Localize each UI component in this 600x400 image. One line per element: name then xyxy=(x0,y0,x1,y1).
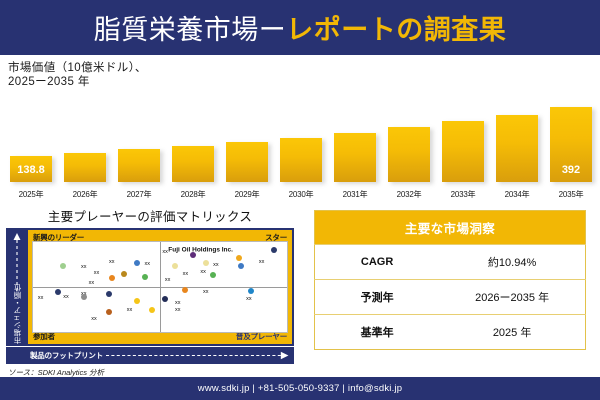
matrix-point-label: xx xyxy=(203,289,209,295)
bar-column xyxy=(386,100,432,182)
bar: 392 xyxy=(550,107,592,182)
matrix-point-label: xx xyxy=(63,294,69,300)
matrix-point-label: xx xyxy=(89,280,95,286)
x-axis-tick-label: 2033年 xyxy=(440,189,486,200)
x-axis-tick-label: 2029年 xyxy=(224,189,270,200)
matrix-data-point xyxy=(60,263,66,269)
page-title-main: 脂質栄養市場ー xyxy=(94,8,287,47)
matrix-data-point xyxy=(134,260,140,266)
matrix-point-label: xx xyxy=(200,269,206,275)
bar xyxy=(442,121,484,182)
matrix-point-label: xx xyxy=(259,259,265,265)
bar xyxy=(172,146,214,182)
matrix-point-label: xx xyxy=(91,316,97,322)
insights-row-value: 2026ー2035 年 xyxy=(439,280,585,315)
matrix-point-label: xx xyxy=(127,307,133,313)
bar xyxy=(118,149,160,182)
bar xyxy=(64,153,106,182)
player-evaluation-matrix-panel: 主要プレーヤーの評価マトリックス 市場シェア・順位 新興のリーダー スター 参加… xyxy=(0,202,300,377)
bar: 138.8 xyxy=(10,156,52,182)
x-axis-tick-label: 2030年 xyxy=(278,189,324,200)
x-axis-tick-label: 2028年 xyxy=(170,189,216,200)
source-note: ソース：SDKI Analytics 分析 xyxy=(4,364,296,378)
insights-table: 主要な市場洞察 CAGR約10.94%予測年2026ー2035 年基準年2025… xyxy=(314,210,586,350)
matrix-data-point xyxy=(271,247,277,253)
matrix-data-point xyxy=(106,309,112,315)
market-value-bar-chart: 市場価値（10億米ドル）、 2025ー2035 年 138.8392 2025年… xyxy=(0,55,600,202)
x-axis-tick-label: 2032年 xyxy=(386,189,432,200)
matrix-x-axis: 製品のフットプリント xyxy=(6,347,294,364)
matrix-point-label: xx xyxy=(213,262,219,268)
x-axis-tick-label: 2034年 xyxy=(494,189,540,200)
bar xyxy=(388,127,430,182)
insights-table-body: CAGR約10.94%予測年2026ー2035 年基準年2025 年 xyxy=(315,245,586,350)
matrix-title: 主要プレーヤーの評価マトリックス xyxy=(4,204,296,228)
bar-value-label: 392 xyxy=(550,164,592,176)
matrix-data-point xyxy=(121,271,127,277)
matrix-point-label: xx xyxy=(94,270,100,276)
bar-column: 138.8 xyxy=(8,100,54,182)
bar-column: 392 xyxy=(548,100,594,182)
matrix-point-label: xx xyxy=(38,295,44,301)
matrix-point-label: xx xyxy=(81,264,87,270)
insights-row-key: 基準年 xyxy=(315,315,440,350)
page-title-accent: レポートの調査果 xyxy=(286,8,506,47)
matrix-point-label: xx xyxy=(165,277,171,283)
matrix-data-point xyxy=(134,298,140,304)
insights-table-row: CAGR約10.94% xyxy=(315,245,586,280)
matrix-y-axis-label: 市場シェア・順位 xyxy=(13,284,22,344)
bar-column xyxy=(224,100,270,182)
matrix-data-point xyxy=(210,272,216,278)
matrix-point-label: xx xyxy=(175,300,181,306)
matrix-data-point xyxy=(142,274,148,280)
matrix-data-point xyxy=(149,307,155,313)
matrix-data-point xyxy=(172,263,178,269)
x-axis-tick-label: 2027年 xyxy=(116,189,162,200)
bar xyxy=(226,142,268,182)
matrix-point-label: xx xyxy=(183,271,189,277)
insights-row-value: 2025 年 xyxy=(439,315,585,350)
insights-row-value: 約10.94% xyxy=(439,245,585,280)
matrix-point-company-label: Fuji Oil Holdings Inc. xyxy=(168,247,233,254)
matrix-point-label: xx xyxy=(109,259,115,265)
page-header: 脂質栄養市場ー レポートの調査果 xyxy=(0,0,600,55)
matrix-data-point xyxy=(236,255,242,261)
insights-row-key: CAGR xyxy=(315,245,440,280)
matrix-box: 市場シェア・順位 新興のリーダー スター 参加者 普及プレーヤー xxxxxxx… xyxy=(6,228,294,346)
matrix-point-label: xx xyxy=(145,261,151,267)
x-axis-tick-labels: 2025年2026年2027年2028年2029年2030年2031年2032年… xyxy=(8,189,594,200)
matrix-data-point xyxy=(182,287,188,293)
matrix-data-point xyxy=(248,288,254,294)
footer-contact-text: www.sdki.jp | +81-505-050-9337 | info@sd… xyxy=(198,383,402,394)
bar-series: 138.8392 xyxy=(8,100,594,182)
matrix-data-point xyxy=(203,260,209,266)
bar-column xyxy=(116,100,162,182)
insights-row-key: 予測年 xyxy=(315,280,440,315)
matrix-data-point xyxy=(162,296,168,302)
matrix-point-label: xx xyxy=(162,249,168,255)
matrix-inner: 新興のリーダー スター 参加者 普及プレーヤー xxxxxxxxxxxxxxxx… xyxy=(28,230,292,344)
matrix-data-point xyxy=(81,294,87,300)
matrix-y-axis: 市場シェア・順位 xyxy=(6,228,28,346)
bar-column xyxy=(170,100,216,182)
matrix-point-label: xx xyxy=(175,307,181,313)
matrix-data-point xyxy=(238,263,244,269)
matrix-plot-area: xxxxxxxxxxxxxxxxxxxxFuji Oil Holdings In… xyxy=(32,241,288,333)
matrix-data-point xyxy=(55,289,61,295)
bar xyxy=(334,133,376,182)
x-axis-tick-label: 2031年 xyxy=(332,189,378,200)
matrix-x-axis-label: 製品のフットプリント xyxy=(30,350,103,361)
lower-section: 主要プレーヤーの評価マトリックス 市場シェア・順位 新興のリーダー スター 参加… xyxy=(0,202,600,377)
bar-value-label: 138.8 xyxy=(10,164,52,176)
insights-table-row: 基準年2025 年 xyxy=(315,315,586,350)
bar-column xyxy=(278,100,324,182)
matrix-point-label: xx xyxy=(246,296,252,302)
x-axis-tick-label: 2026年 xyxy=(62,189,108,200)
bar-column xyxy=(332,100,378,182)
bar-column xyxy=(62,100,108,182)
right-arrow-icon xyxy=(106,351,290,360)
matrix-data-point xyxy=(109,275,115,281)
insights-table-title: 主要な市場洞察 xyxy=(315,211,586,245)
insights-table-row: 予測年2026ー2035 年 xyxy=(315,280,586,315)
insights-table-header-row: 主要な市場洞察 xyxy=(315,211,586,245)
bar xyxy=(280,138,322,182)
x-axis-tick-label: 2025年 xyxy=(8,189,54,200)
key-market-insights-panel: 主要な市場洞察 CAGR約10.94%予測年2026ー2035 年基準年2025… xyxy=(300,202,600,377)
bar xyxy=(496,115,538,182)
matrix-data-point xyxy=(106,291,112,297)
bar-column xyxy=(494,100,540,182)
x-axis-tick-label: 2035年 xyxy=(548,189,594,200)
page-footer: www.sdki.jp | +81-505-050-9337 | info@sd… xyxy=(0,377,600,400)
chart-subtitle: 市場価値（10億米ドル）、 2025ー2035 年 xyxy=(8,61,592,89)
bar-column xyxy=(440,100,486,182)
